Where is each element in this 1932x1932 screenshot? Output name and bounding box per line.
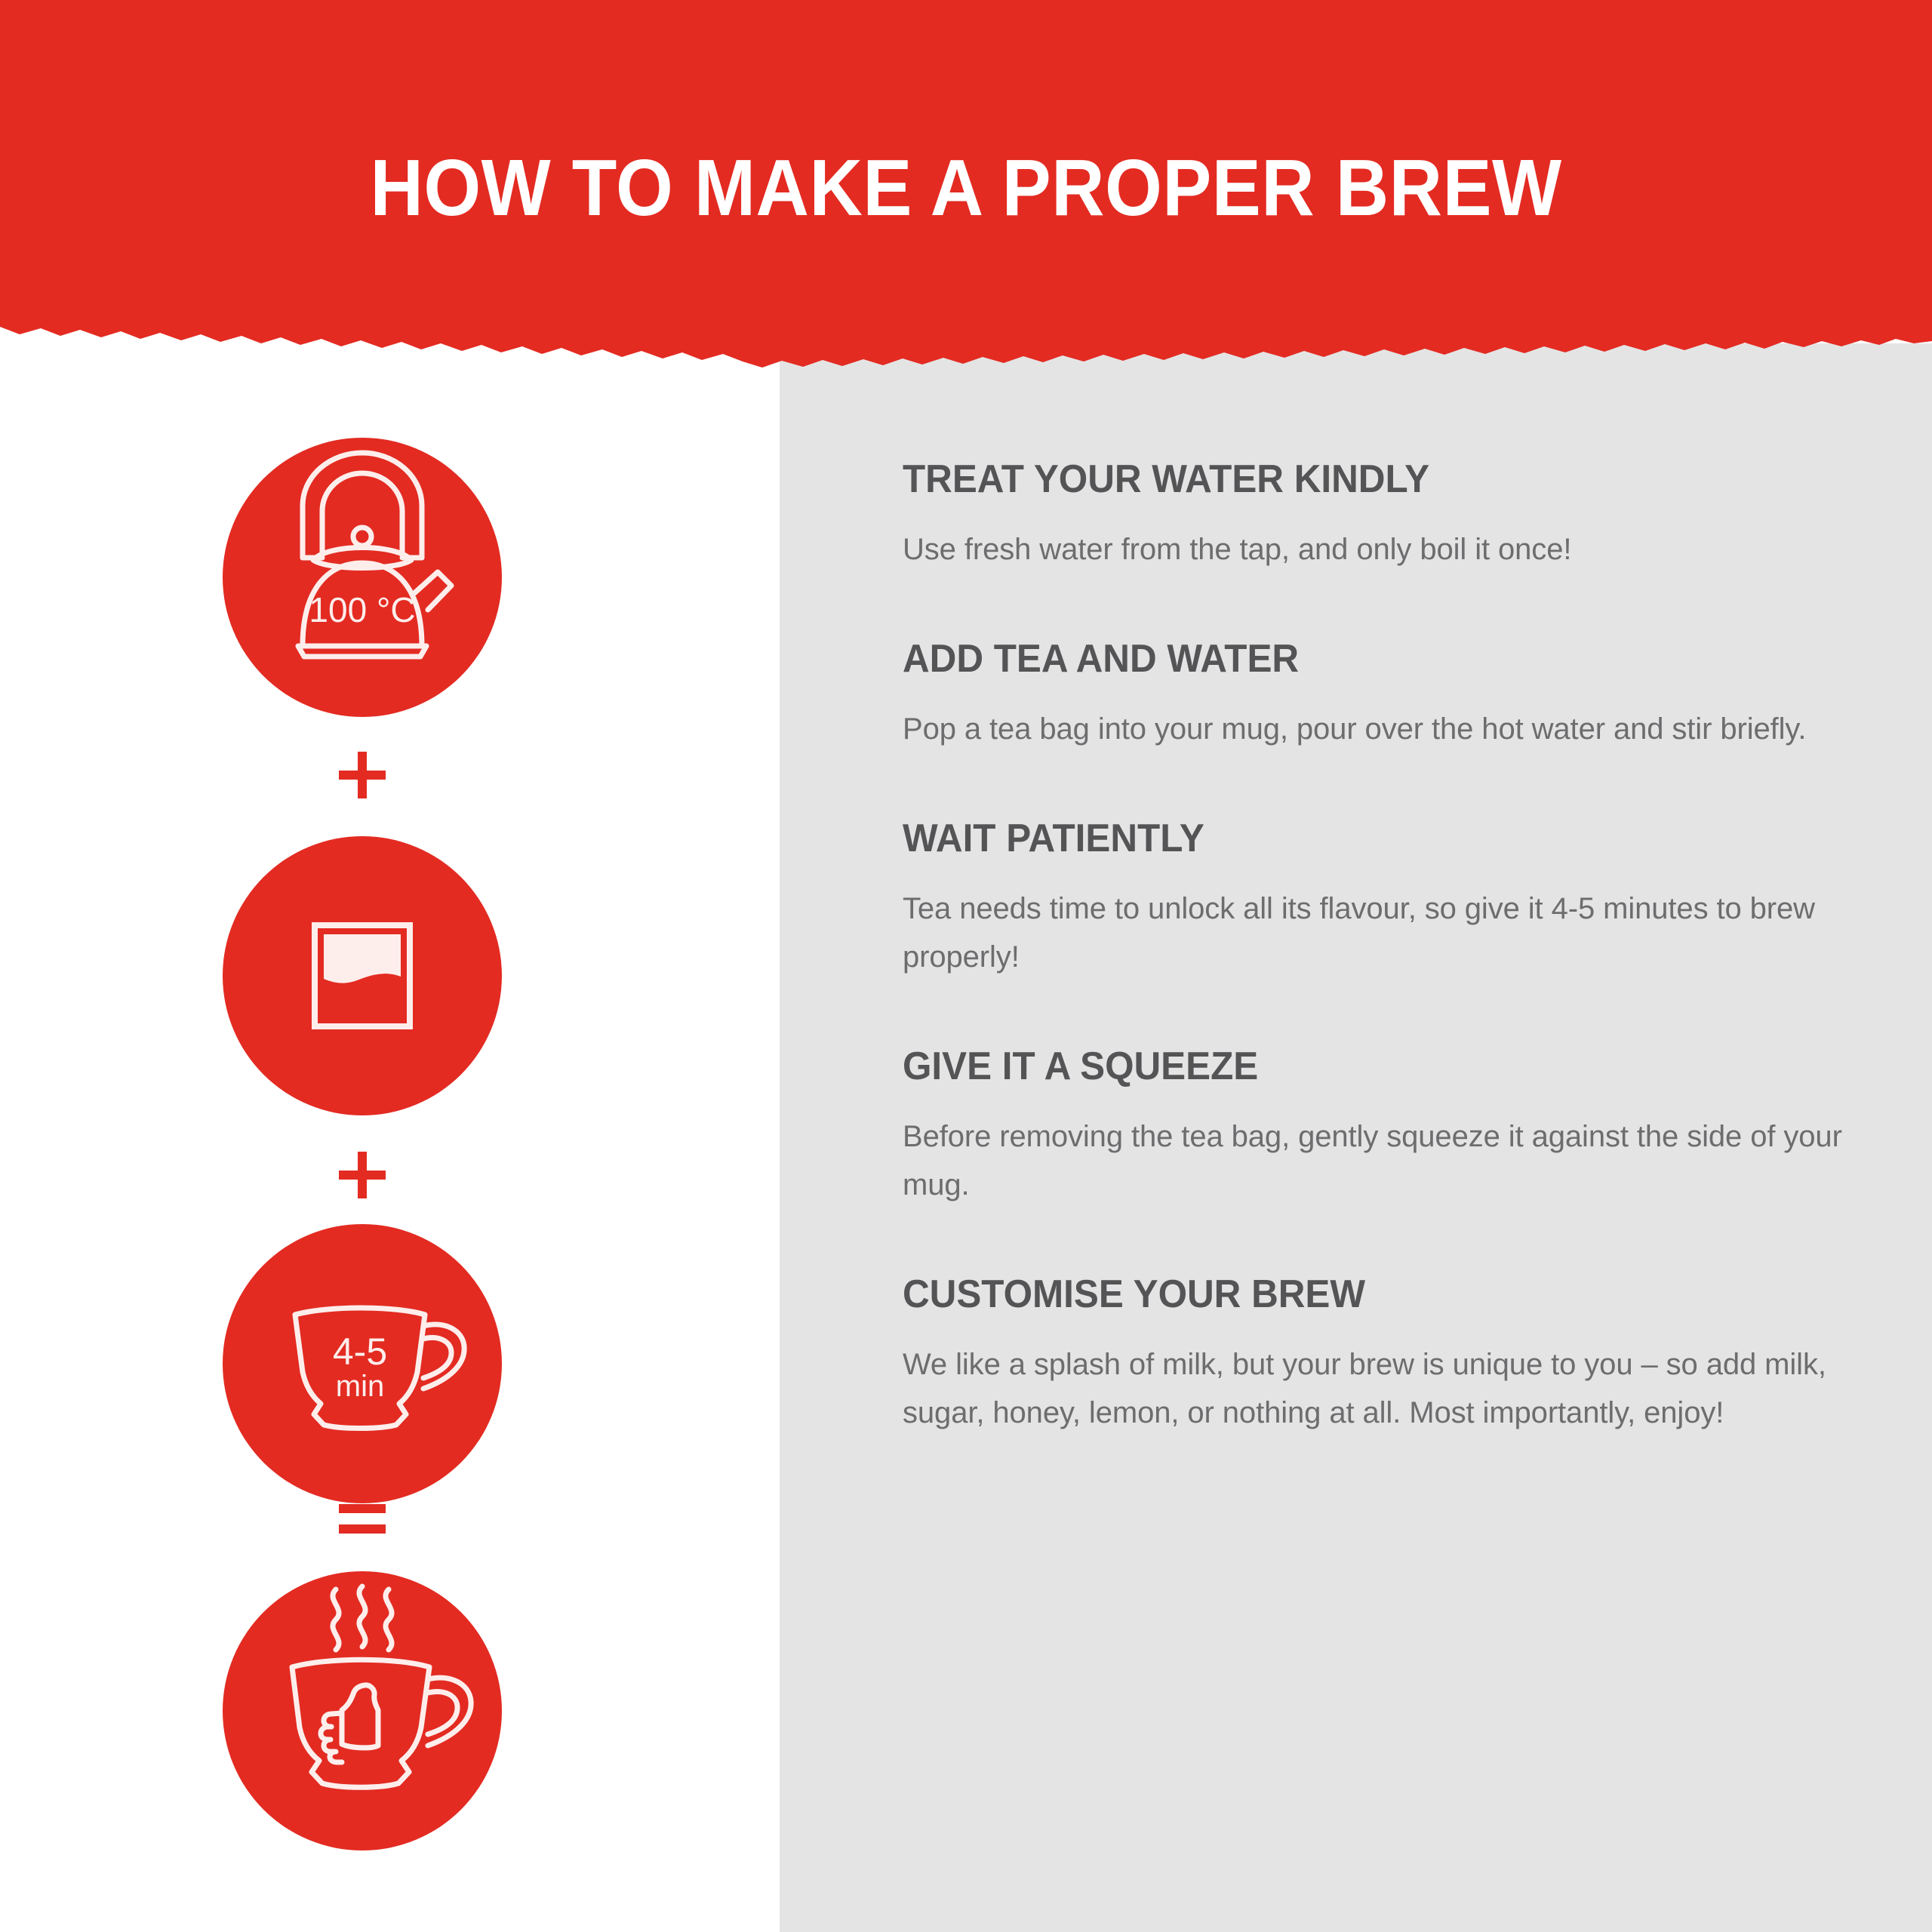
connector-equals [223,1500,502,1542]
plus-icon [334,1147,390,1203]
equals-icon [334,1500,390,1538]
step-item: GIVE IT A SQUEEZE Before removing the te… [903,1046,1861,1209]
step-heading: GIVE IT A SQUEEZE [903,1046,1814,1087]
kettle-icon: 100 °C [223,438,502,717]
step-body: Pop a tea bag into your mug, pour over t… [903,705,1842,753]
mug-timer-unit-label: min [336,1370,384,1403]
steps-list: TREAT YOUR WATER KINDLY Use fresh water … [903,459,1861,1437]
page-title: HOW TO MAKE A PROPER BREW [77,148,1854,228]
step-body: Use fresh water from the tap, and only b… [903,525,1842,574]
step-body: Tea needs time to unlock all its flavour… [903,884,1842,981]
kettle-temperature-label: 100 °C [309,590,415,629]
step-body: Before removing the tea bag, gently sque… [903,1112,1842,1209]
step-item: TREAT YOUR WATER KINDLY Use fresh water … [903,459,1861,574]
plus-icon [334,747,390,803]
step-heading: ADD TEA AND WATER [903,638,1814,679]
tea-bag-icon [223,836,502,1115]
icon-circle-mug-thumbs-up [223,1571,502,1850]
header-banner: HOW TO MAKE A PROPER BREW [0,0,1932,377]
step-heading: TREAT YOUR WATER KINDLY [903,459,1814,500]
mug-timer-icon: 4-5 min [223,1224,502,1503]
step-heading: CUSTOMISE YOUR BREW [903,1274,1814,1315]
icon-circle-kettle: 100 °C [223,438,502,717]
step-item: WAIT PATIENTLY Tea needs time to unlock … [903,818,1861,981]
connector-plus-1 [223,747,502,807]
step-item: CUSTOMISE YOUR BREW We like a splash of … [903,1274,1861,1437]
icon-circle-tea-bag [223,836,502,1115]
connector-plus-2 [223,1147,502,1207]
mug-timer-minutes-label: 4-5 [333,1331,387,1373]
mug-thumbs-up-icon [223,1571,502,1850]
icon-sequence-column: 100 °C 4-5 min [223,423,525,1857]
steam-icon [333,1586,392,1650]
step-body: We like a splash of milk, but your brew … [903,1340,1842,1437]
step-heading: WAIT PATIENTLY [903,818,1814,859]
icon-circle-mug-timer: 4-5 min [223,1224,502,1503]
step-item: ADD TEA AND WATER Pop a tea bag into you… [903,638,1861,753]
